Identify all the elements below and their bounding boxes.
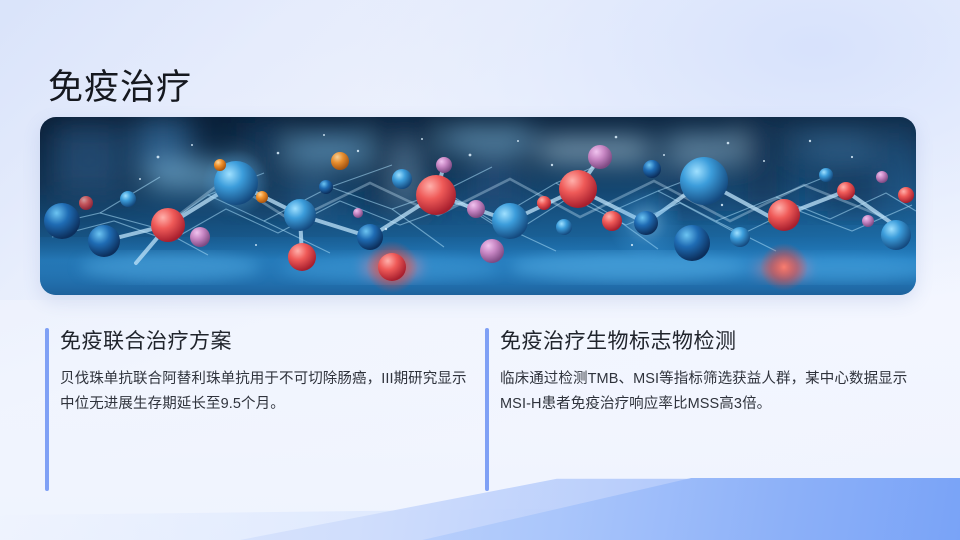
molecular-structure-illustration xyxy=(40,117,916,295)
hero-image-card xyxy=(40,117,916,295)
slide-canvas: 免疫治疗 xyxy=(0,0,960,540)
page-title: 免疫治疗 xyxy=(48,65,192,111)
content-columns: 免疫联合治疗方案 贝伐珠单抗联合阿替利珠单抗用于不可切除肠癌，III期研究显示中… xyxy=(40,326,920,417)
column-heading: 免疫治疗生物标志物检测 xyxy=(500,326,920,358)
column-accent-bar xyxy=(45,328,49,491)
column-body-text: 贝伐珠单抗联合阿替利珠单抗用于不可切除肠癌，III期研究显示中位无进展生存期延长… xyxy=(60,367,470,417)
column-body-text: 临床通过检测TMB、MSI等指标筛选获益人群，某中心数据显示MSI-H患者免疫治… xyxy=(500,367,910,417)
column-immune-combination-therapy: 免疫联合治疗方案 贝伐珠单抗联合阿替利珠单抗用于不可切除肠癌，III期研究显示中… xyxy=(40,326,480,417)
column-accent-bar xyxy=(485,328,489,491)
column-heading: 免疫联合治疗方案 xyxy=(60,326,480,358)
column-immunotherapy-biomarker-testing: 免疫治疗生物标志物检测 临床通过检测TMB、MSI等指标筛选获益人群，某中心数据… xyxy=(480,326,920,417)
